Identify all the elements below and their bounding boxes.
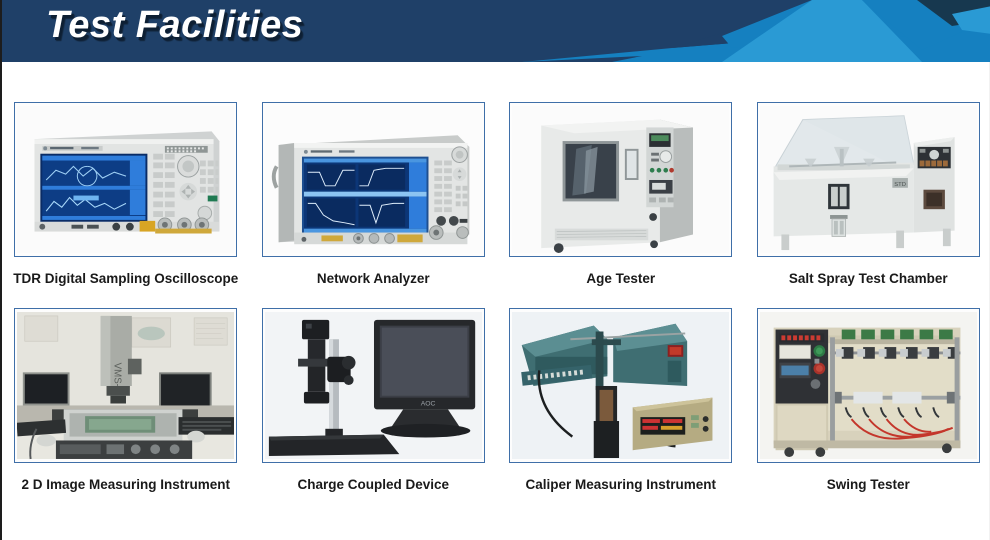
item-caption: 2 D Image Measuring Instrument bbox=[21, 477, 230, 492]
age-tester-photo bbox=[512, 105, 729, 254]
gallery-item[interactable]: STD bbox=[745, 102, 990, 286]
thumbnail-frame[interactable] bbox=[509, 102, 732, 257]
oscilloscope-photo bbox=[17, 105, 234, 254]
gallery-item[interactable]: Age Tester bbox=[497, 102, 745, 286]
thumbnail-frame[interactable]: AOC bbox=[262, 308, 485, 463]
salt-spray-chamber-photo: STD bbox=[760, 105, 977, 254]
gallery-item[interactable]: AOC bbox=[250, 308, 498, 492]
item-caption: TDR Digital Sampling Oscilloscope bbox=[13, 271, 238, 286]
image-measuring-photo: VMS- bbox=[17, 311, 234, 460]
page-header: Test Facilities bbox=[2, 0, 990, 62]
svg-text:AOC: AOC bbox=[420, 400, 435, 407]
thumbnail-frame[interactable] bbox=[757, 308, 980, 463]
gallery-row: VMS- bbox=[2, 308, 990, 492]
page-root: Test Facilities bbox=[0, 0, 990, 540]
thumbnail-frame[interactable] bbox=[509, 308, 732, 463]
gallery-row: TDR Digital Sampling Oscilloscope bbox=[2, 102, 990, 286]
gallery-item[interactable]: TDR Digital Sampling Oscilloscope bbox=[2, 102, 250, 286]
svg-text:VMS-: VMS- bbox=[112, 363, 123, 387]
caliper-instrument-photo bbox=[512, 311, 729, 460]
thumbnail-frame[interactable]: VMS- bbox=[14, 308, 237, 463]
item-caption: Swing Tester bbox=[827, 477, 910, 492]
swing-tester-photo bbox=[760, 311, 977, 460]
thumbnail-cell[interactable]: Caliper Measuring Instrument bbox=[497, 308, 745, 492]
item-caption: Salt Spray Test Chamber bbox=[789, 271, 948, 286]
item-caption: Age Tester bbox=[586, 271, 655, 286]
item-caption: Caliper Measuring Instrument bbox=[525, 477, 716, 492]
item-caption: Charge Coupled Device bbox=[297, 477, 449, 492]
gallery-item[interactable]: Network Analyzer bbox=[250, 102, 498, 286]
thumbnail-frame[interactable]: STD bbox=[757, 102, 980, 257]
header-geometric-decoration bbox=[522, 0, 990, 62]
item-caption: Network Analyzer bbox=[317, 271, 430, 286]
gallery-item[interactable]: VMS- bbox=[2, 308, 250, 492]
page-title: Test Facilities bbox=[46, 4, 303, 47]
thumbnail-frame[interactable] bbox=[262, 102, 485, 257]
thumbnail-frame[interactable] bbox=[14, 102, 237, 257]
svg-text:STD: STD bbox=[894, 182, 906, 188]
network-analyzer-photo bbox=[265, 105, 482, 254]
ccd-camera-photo: AOC bbox=[265, 311, 482, 460]
gallery-item[interactable]: Swing Tester bbox=[745, 308, 990, 492]
facility-gallery: TDR Digital Sampling Oscilloscope bbox=[2, 62, 990, 514]
